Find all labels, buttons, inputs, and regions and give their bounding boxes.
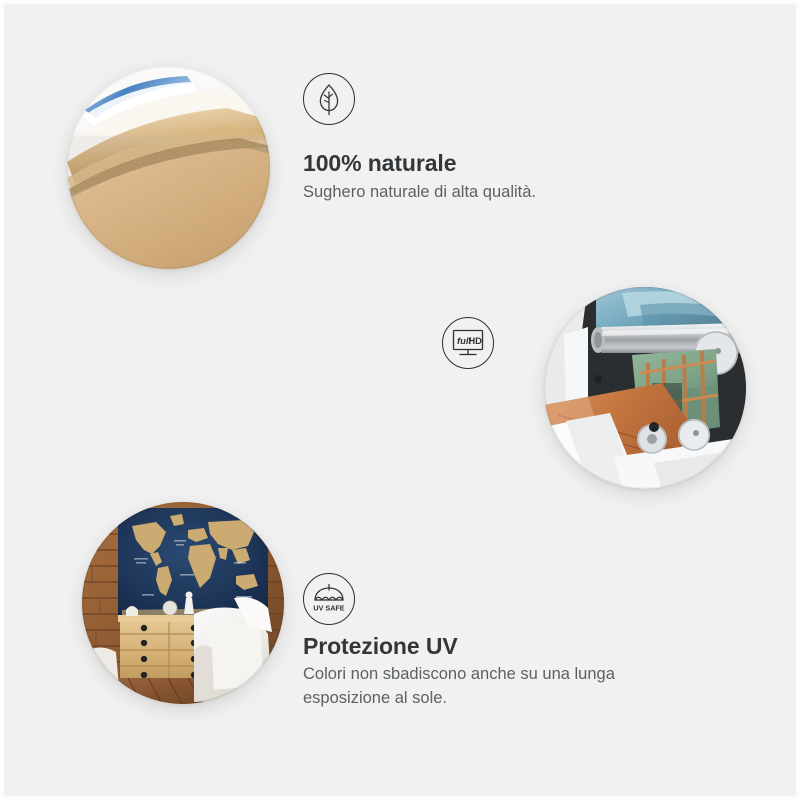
- feature-highlights-page: 100% naturale Sughero naturale di alta q…: [0, 0, 800, 800]
- feature-description-line-1: Colori non sbadiscono anche su una lunga: [303, 663, 733, 687]
- uv-safe-label: UV SAFE: [313, 604, 344, 613]
- fullhd-monitor-glyph: full HD: [451, 328, 485, 358]
- feature-title-uv-protection: Protezione UV: [303, 633, 458, 661]
- leaf-icon-glyph: [313, 82, 345, 116]
- feature-title-natural: 100% naturale: [303, 150, 456, 178]
- uv-umbrella-glyph: UV SAFE: [311, 583, 347, 615]
- feature-description-uv-protection: Colori non sbadiscono anche su una lunga…: [303, 663, 733, 711]
- fullhd-monitor-icon: full HD: [442, 317, 494, 369]
- fullhd-label-regular: HD: [468, 335, 482, 346]
- interior-world-map-image: [82, 502, 284, 704]
- leaf-icon: [303, 73, 355, 125]
- printing-machine-image: [544, 287, 746, 489]
- uv-umbrella-icon: UV SAFE: [303, 573, 355, 625]
- feature-description-natural: Sughero naturale di alta qualità.: [303, 181, 723, 205]
- cork-texture-image: [67, 66, 270, 269]
- feature-description-line-2: esposizione al sole.: [303, 687, 733, 711]
